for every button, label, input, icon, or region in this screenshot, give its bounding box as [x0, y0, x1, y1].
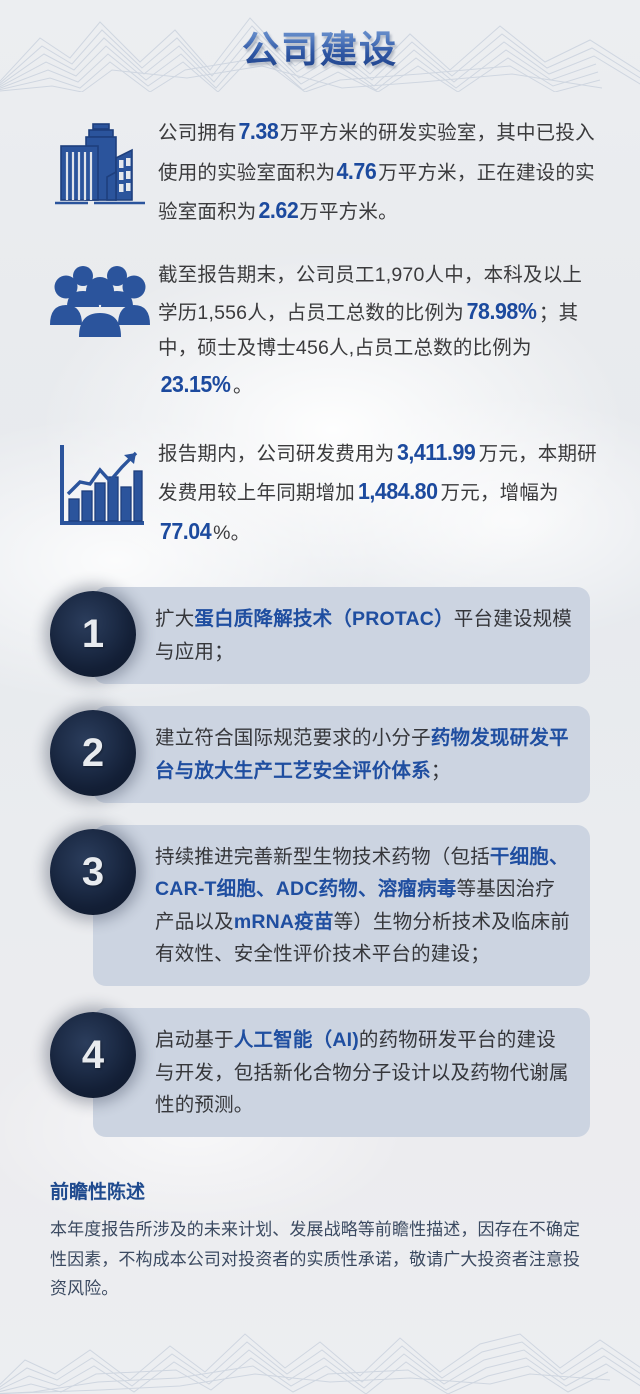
people-group-icon: [42, 257, 158, 343]
item-text-part: 扩大: [155, 608, 194, 630]
stats-section: 公司拥有7.38万平方米的研发实验室，其中已投入使用的实验室面积为4.76万平方…: [0, 92, 640, 551]
stat-text-part: 。: [233, 375, 253, 397]
item-text: 建立符合国际规范要求的小分子药物发现研发平台与放大生产工艺安全评价体系；: [155, 722, 572, 787]
item-number: 1: [82, 614, 104, 654]
list-item: 3 持续推进完善新型生物技术药物（包括干细胞、CAR-T细胞、ADC药物、溶瘤病…: [50, 825, 590, 986]
stat-figure: 2.62: [258, 191, 298, 231]
footer-title: 前瞻性陈述: [50, 1177, 590, 1204]
stat-figure: 78.98%: [467, 292, 537, 332]
stat-figure: 4.76: [337, 152, 377, 192]
item-text-part: 持续推进完善新型生物技术药物（包括: [155, 846, 490, 868]
stat-row: 报告期内，公司研发费用为3,411.99万元，本期研发费用较上年同期增加1,48…: [42, 431, 598, 552]
list-item: 1 扩大蛋白质降解技术（PROTAC）平台建设规模与应用；: [50, 587, 590, 684]
bottom-mountain-decoration: [0, 1288, 640, 1394]
stat-figure: 7.38: [238, 112, 278, 152]
item-number: 3: [82, 852, 104, 892]
item-highlight: 人工智能（AI): [234, 1029, 359, 1051]
item-text: 持续推进完善新型生物技术药物（包括干细胞、CAR-T细胞、ADC药物、溶瘤病毒等…: [155, 841, 572, 970]
item-number-badge: 4: [50, 1012, 136, 1098]
stat-figure: 23.15%: [161, 365, 231, 405]
initiatives-list: 1 扩大蛋白质降解技术（PROTAC）平台建设规模与应用； 2 建立符合国际规范…: [0, 577, 640, 1137]
item-number-badge: 3: [50, 829, 136, 915]
forward-looking-statement: 前瞻性陈述 本年度报告所涉及的未来计划、发展战略等前瞻性描述，因存在不确定性因素…: [0, 1159, 640, 1303]
item-text-part: 建立符合国际规范要求的小分子: [155, 727, 431, 749]
stat-text-part: 万元，增幅为: [441, 482, 559, 504]
footer-text: 本年度报告所涉及的未来计划、发展战略等前瞻性描述，因存在不确定性因素，不构成本公…: [50, 1215, 590, 1303]
item-text: 扩大蛋白质降解技术（PROTAC）平台建设规模与应用；: [155, 603, 572, 668]
page-header: 公司建设: [0, 0, 640, 92]
item-number-badge: 2: [50, 710, 136, 796]
item-number: 4: [82, 1035, 104, 1075]
item-card: 扩大蛋白质降解技术（PROTAC）平台建设规模与应用；: [93, 587, 590, 684]
stat-text-part: 报告期内，公司研发费用为: [158, 443, 394, 465]
office-buildings-icon: [42, 110, 158, 212]
stat-row: 公司拥有7.38万平方米的研发实验室，其中已投入使用的实验室面积为4.76万平方…: [42, 110, 598, 231]
stat-figure: 77.04: [160, 512, 211, 552]
stat-row: 截至报告期末，公司员工1,970人中，本科及以上学历1,556人，占员工总数的比…: [42, 257, 598, 405]
item-text-part: 启动基于: [155, 1029, 234, 1051]
growth-bar-chart-icon: [42, 431, 158, 533]
item-card: 建立符合国际规范要求的小分子药物发现研发平台与放大生产工艺安全评价体系；: [93, 706, 590, 803]
item-highlight: mRNA疫苗: [234, 911, 334, 933]
item-highlight: 蛋白质降解技术（PROTAC）: [194, 608, 453, 630]
list-item: 2 建立符合国际规范要求的小分子药物发现研发平台与放大生产工艺安全评价体系；: [50, 706, 590, 803]
stat-text: 公司拥有7.38万平方米的研发实验室，其中已投入使用的实验室面积为4.76万平方…: [158, 110, 598, 231]
item-card: 启动基于人工智能（AI)的药物研发平台的建设与开发，包括新化合物分子设计以及药物…: [93, 1008, 590, 1137]
list-item: 4 启动基于人工智能（AI)的药物研发平台的建设与开发，包括新化合物分子设计以及…: [50, 1008, 590, 1137]
item-number: 2: [82, 733, 104, 773]
page-title: 公司建设: [242, 19, 398, 73]
stat-figure: 3,411.99: [397, 433, 475, 473]
stat-text: 报告期内，公司研发费用为3,411.99万元，本期研发费用较上年同期增加1,48…: [158, 431, 598, 552]
item-card: 持续推进完善新型生物技术药物（包括干细胞、CAR-T细胞、ADC药物、溶瘤病毒等…: [93, 825, 590, 986]
stat-text: 截至报告期末，公司员工1,970人中，本科及以上学历1,556人，占员工总数的比…: [158, 257, 598, 405]
stat-text-part: 公司拥有: [158, 122, 237, 144]
stat-text-part: 万平方米。: [299, 201, 398, 223]
infographic-page: 公司建设: [0, 0, 640, 1394]
stat-figure: 1,484.80: [358, 472, 438, 512]
item-text: 启动基于人工智能（AI)的药物研发平台的建设与开发，包括新化合物分子设计以及药物…: [155, 1024, 572, 1121]
item-number-badge: 1: [50, 591, 136, 677]
item-text-part: ；: [431, 760, 451, 782]
stat-text-part: %。: [213, 522, 250, 544]
